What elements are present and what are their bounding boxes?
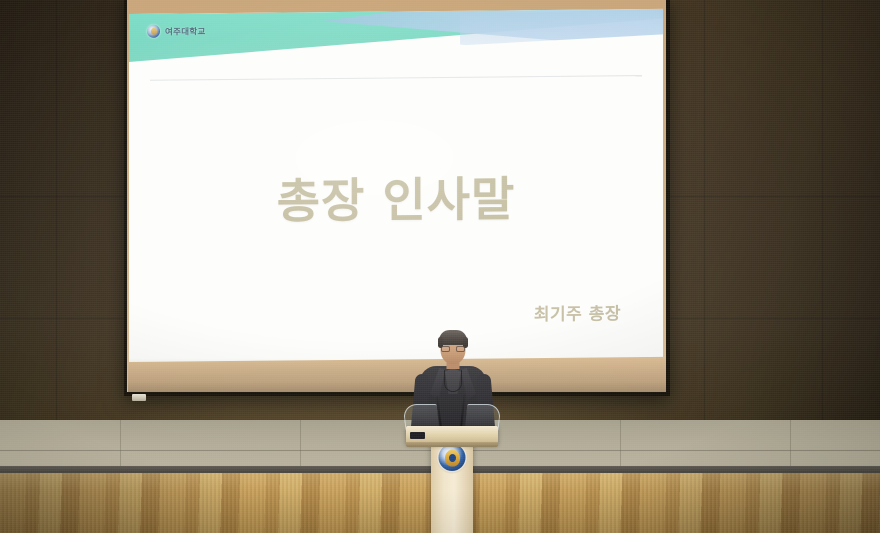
projection-screen[interactable]: 여주대학교 총장 인사말 최기주 총장 bbox=[124, 0, 670, 396]
speaker-glasses-icon bbox=[441, 346, 465, 353]
slide-title: 총장 인사말 bbox=[129, 159, 663, 233]
screen-bottom-shadow bbox=[128, 358, 666, 392]
speaker-hair bbox=[439, 330, 467, 345]
slide-logo-label: 여주대학교 bbox=[165, 25, 206, 37]
university-crest-icon bbox=[147, 25, 160, 38]
auditorium-scene: 여주대학교 총장 인사말 최기주 총장 bbox=[0, 0, 880, 533]
podium-display-icon bbox=[410, 432, 425, 439]
university-emblem-icon bbox=[439, 444, 466, 471]
lectern-desktop-edge bbox=[406, 442, 498, 447]
speaker-lanyard bbox=[444, 370, 462, 392]
screen-pull-tab[interactable] bbox=[132, 394, 146, 401]
lectern bbox=[396, 398, 508, 533]
slide-subtitle: 최기주 총장 bbox=[534, 299, 621, 325]
slide-logo: 여주대학교 bbox=[147, 24, 206, 38]
presentation-slide[interactable]: 여주대학교 총장 인사말 최기주 총장 bbox=[129, 9, 663, 362]
